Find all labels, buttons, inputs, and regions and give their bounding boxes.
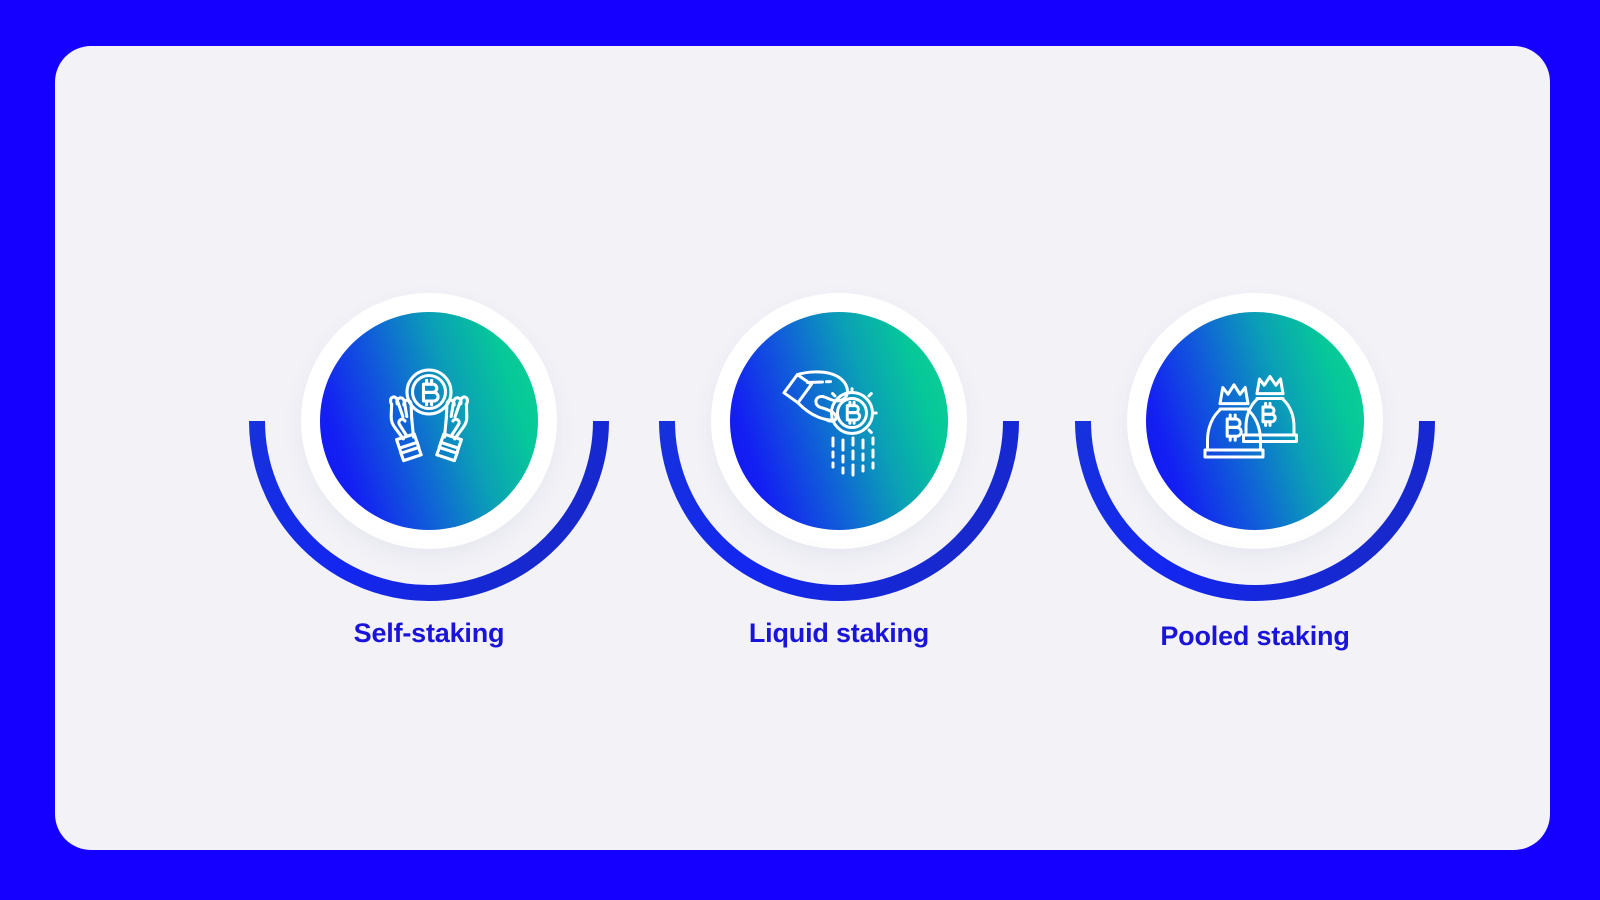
staking-type-card-pooled-staking[interactable]: Pooled staking [1045, 286, 1465, 706]
staking-type-label-liquid-staking: Liquid staking [629, 618, 1049, 649]
hands-holding-bitcoin-icon [369, 365, 489, 477]
gradient-circle-self-staking [320, 312, 538, 530]
staking-type-label-self-staking: Self-staking [219, 618, 639, 649]
infographic-stage: Self-staking [0, 0, 1600, 900]
staking-type-card-self-staking[interactable]: Self-staking [219, 286, 639, 706]
staking-type-card-liquid-staking[interactable]: Liquid staking [629, 286, 1049, 706]
content-card: Self-staking [55, 46, 1550, 850]
two-bitcoin-money-bags-icon [1195, 366, 1315, 476]
gradient-circle-pooled-staking [1146, 312, 1364, 530]
staking-type-label-pooled-staking: Pooled staking [1045, 621, 1465, 652]
gradient-circle-liquid-staking [730, 312, 948, 530]
hand-dropping-bitcoin-coin-icon [778, 362, 900, 480]
